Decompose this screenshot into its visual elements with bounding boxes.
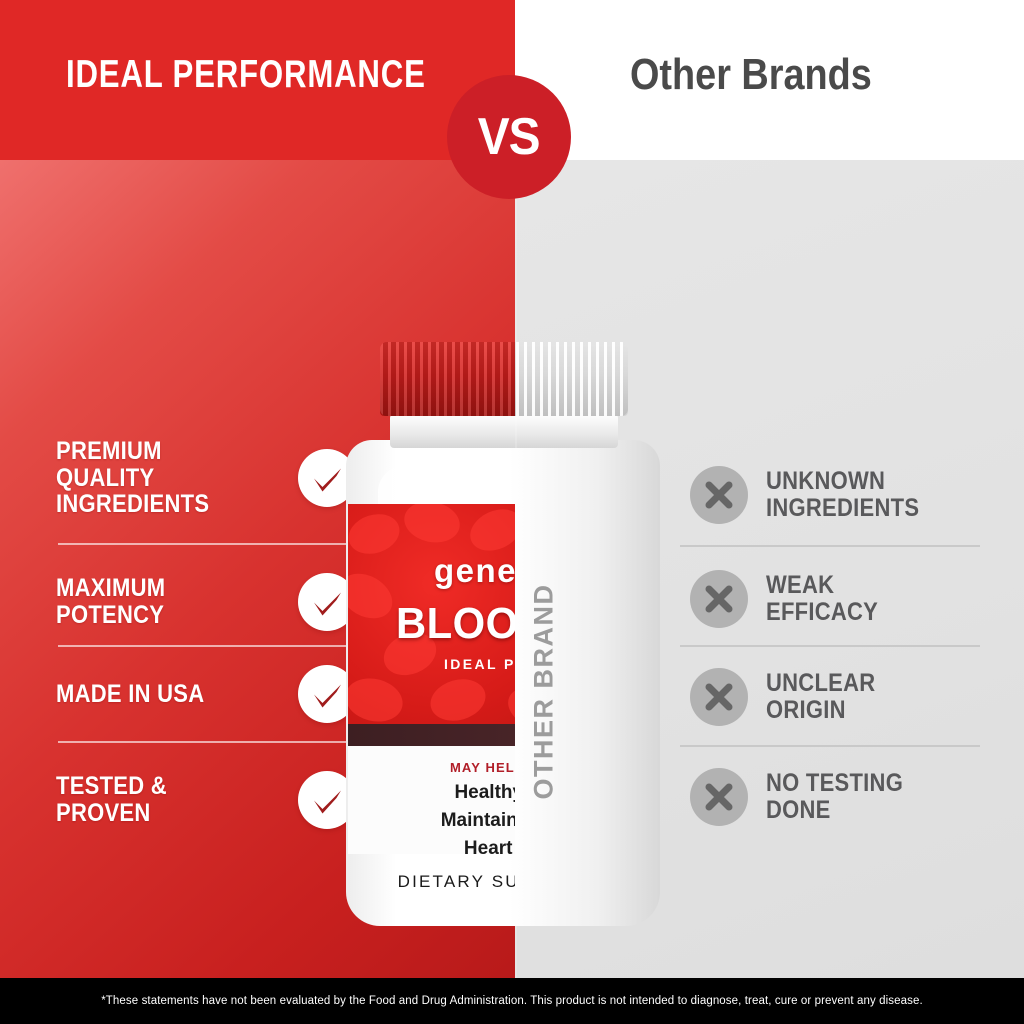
bottle-other-brand-half: OTHER BRAND [515, 336, 668, 928]
vs-label: VS [478, 111, 540, 163]
bottle-neck-plain [515, 414, 618, 448]
bottle-tagline: IDEAL PERFOR [444, 656, 515, 672]
right-feature-label-3: UNCLEAR ORIGIN [766, 670, 875, 724]
x-icon [690, 668, 748, 726]
bottle-brand-name: gene [434, 552, 515, 590]
bottle-cap-white [515, 342, 628, 416]
product-bottle: gene BLOOD C IDEAL PERFOR MAY HELP SU He… [338, 336, 668, 928]
bottle-product-name: BLOOD C [396, 599, 515, 649]
bottle-benefit-2: Maintain Ener [348, 810, 515, 832]
right-feature-row-4: NO TESTING DONE [690, 760, 990, 834]
left-feature-row-2: MAXIMUM POTENCY [56, 565, 356, 639]
x-icon [690, 466, 748, 524]
x-icon [690, 570, 748, 628]
bottle-label: gene BLOOD C IDEAL PERFOR MAY HELP SU He… [348, 504, 515, 854]
left-divider-1 [58, 543, 350, 545]
right-divider-1 [680, 545, 980, 547]
panel-split-seam [515, 160, 517, 978]
right-divider-3 [680, 745, 980, 747]
right-feature-label-1: UNKNOWN INGREDIENTS [766, 468, 919, 522]
left-feature-row-1: PREMIUM QUALITY INGREDIENTS [56, 428, 356, 528]
left-feature-row-4: TESTED & PROVEN [56, 763, 356, 837]
right-feature-row-2: WEAK EFFICACY [690, 562, 990, 636]
bottle-benefit-1: Healthy Lif [348, 782, 515, 804]
bottle-cap-red [380, 342, 515, 416]
header-right-title: Other Brands [630, 44, 991, 106]
right-feature-label-4: NO TESTING DONE [766, 770, 903, 824]
bottle-benefit-3: Heart He [348, 838, 515, 854]
bottle-may-help-text: MAY HELP SU [450, 760, 515, 775]
comparison-infographic: IDEAL PERFORMANCE Other Brands VS PREMIU… [0, 0, 1024, 1024]
bottle-neck [390, 414, 515, 448]
left-divider-2 [58, 645, 350, 647]
left-feature-label-4: TESTED & PROVEN [56, 773, 167, 827]
vs-badge: VS [447, 75, 571, 199]
right-feature-row-3: UNCLEAR ORIGIN [690, 660, 990, 734]
fda-disclaimer-text: *These statements have not been evaluate… [101, 995, 923, 1007]
footer-disclaimer-bar: *These statements have not been evaluate… [0, 978, 1024, 1024]
left-feature-label-1: PREMIUM QUALITY INGREDIENTS [56, 438, 209, 518]
left-feature-label-2: MAXIMUM POTENCY [56, 575, 165, 629]
left-divider-3 [58, 741, 350, 743]
header-left-title: IDEAL PERFORMANCE [66, 46, 402, 104]
left-feature-label-3: MADE IN USA [56, 681, 204, 708]
bottle-dietary-supplement-text: DIETARY SUPPLEM [338, 872, 515, 892]
bottle-branded-half: gene BLOOD C IDEAL PERFOR MAY HELP SU He… [338, 336, 515, 928]
left-feature-row-3: MADE IN USA [56, 665, 356, 723]
x-icon [690, 768, 748, 826]
right-feature-row-1: UNKNOWN INGREDIENTS [690, 458, 990, 532]
other-brand-vertical-label: OTHER BRAND [529, 552, 560, 832]
right-divider-2 [680, 645, 980, 647]
right-feature-label-2: WEAK EFFICACY [766, 572, 878, 626]
